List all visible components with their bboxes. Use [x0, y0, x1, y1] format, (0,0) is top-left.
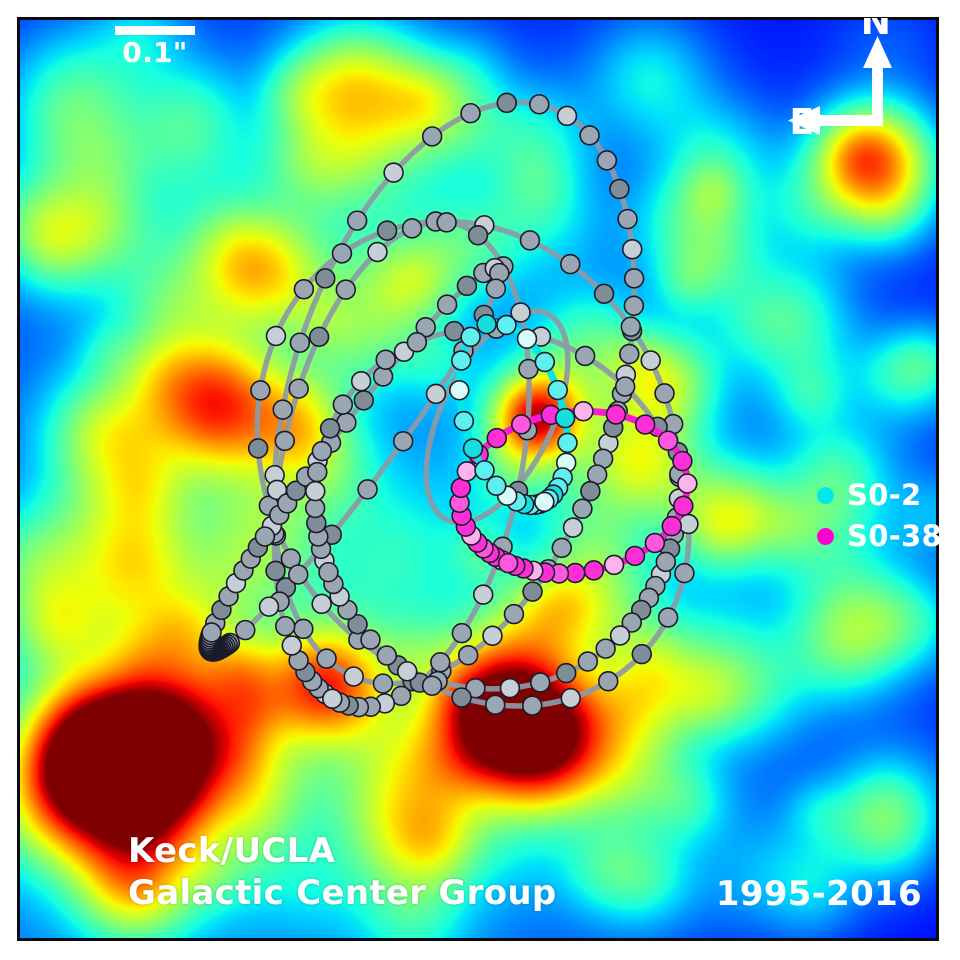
- compass-icon: N E: [786, 18, 916, 153]
- compass-rose: N E: [786, 18, 916, 153]
- legend-item-s0-38: S0-38: [817, 516, 942, 557]
- legend: S0-2 S0-38: [817, 475, 942, 557]
- figure-root: 0.1" N E S0-2 S0-38 Keck/UCLA Galactic C…: [0, 0, 960, 960]
- scale-bar-rule: [115, 26, 195, 35]
- scale-bar-label: 0.1": [115, 38, 195, 69]
- scale-bar: 0.1": [115, 26, 195, 69]
- compass-north-label: N: [861, 18, 891, 43]
- sky-background-canvas: [20, 20, 936, 938]
- compass-east-label: E: [790, 102, 815, 143]
- legend-label-s0-38: S0-38: [847, 516, 942, 557]
- sky-image-panel: [17, 17, 939, 941]
- legend-swatch-s0-38: [817, 528, 834, 545]
- credit-line-1: Keck/UCLA: [128, 831, 557, 872]
- epoch-range: 1995-2016: [716, 874, 922, 914]
- legend-item-s0-2: S0-2: [817, 475, 942, 516]
- credit-block: Keck/UCLA Galactic Center Group: [128, 831, 557, 914]
- legend-label-s0-2: S0-2: [847, 475, 921, 516]
- legend-swatch-s0-2: [817, 487, 834, 504]
- credit-line-2: Galactic Center Group: [128, 873, 557, 914]
